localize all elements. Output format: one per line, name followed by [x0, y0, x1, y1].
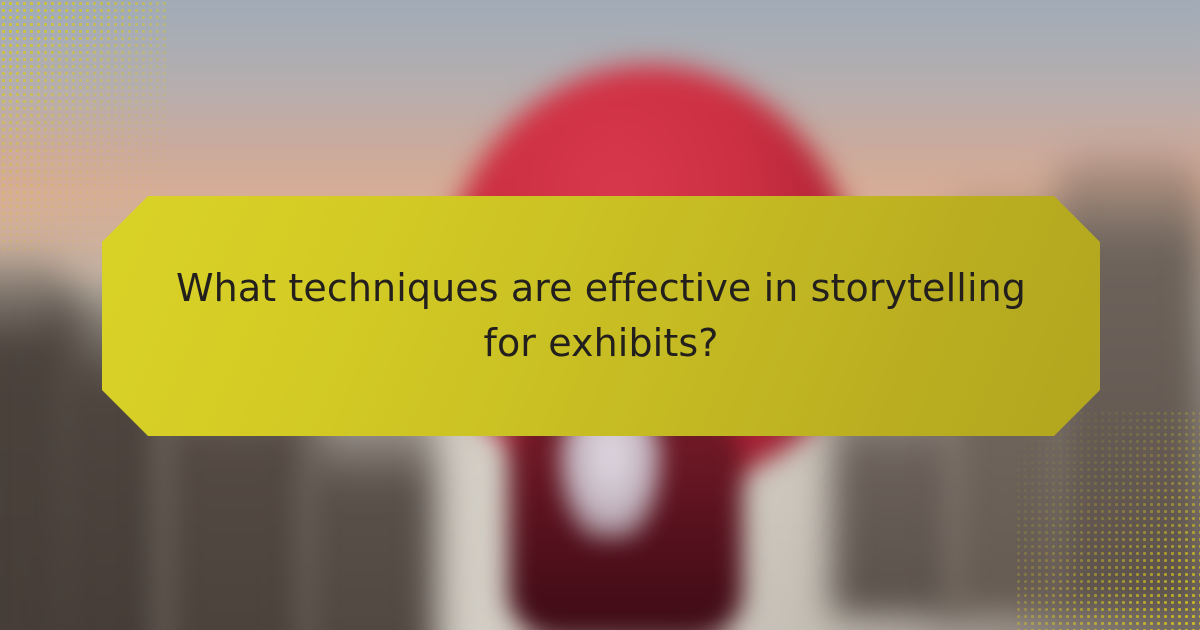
page-title: What techniques are effective in storyte… — [166, 261, 1036, 372]
social-card: What techniques are effective in storyte… — [0, 0, 1200, 630]
question-banner: What techniques are effective in storyte… — [102, 196, 1100, 436]
